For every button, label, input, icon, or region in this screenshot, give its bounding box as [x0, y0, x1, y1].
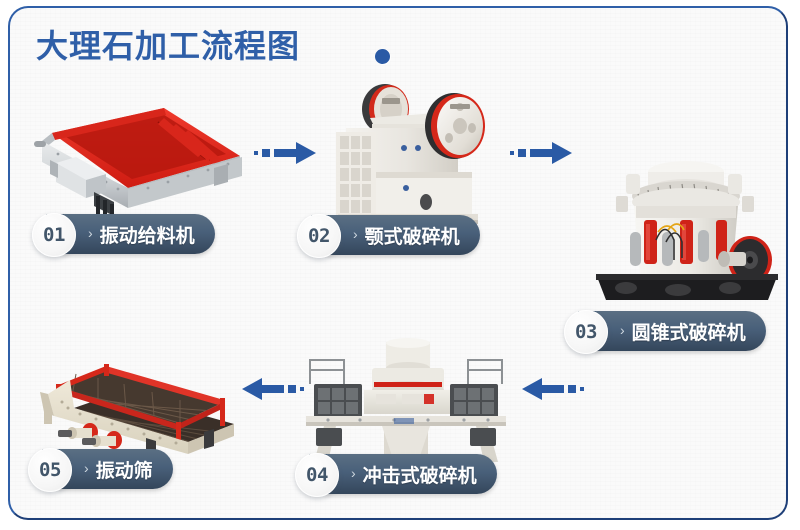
step-title-03: 圆锥式破碎机	[632, 318, 746, 345]
machine-cone-crusher	[582, 148, 788, 310]
chevron-right-icon: ›	[88, 226, 93, 240]
step-pill-04[interactable]: › 冲击式破碎机	[325, 454, 497, 494]
step-pill-05[interactable]: › 振动筛	[58, 449, 173, 489]
step-title-05: 振动筛	[96, 456, 153, 483]
machine-vibrating-feeder	[28, 96, 258, 226]
step-badge-03: 03	[564, 310, 608, 354]
title-bullet-dot	[375, 49, 390, 64]
arrow-03-to-04	[518, 376, 584, 402]
step-badge-04: 04	[295, 453, 339, 497]
chevron-right-icon: ›	[353, 227, 358, 241]
step-title-01: 振动给料机	[100, 221, 195, 248]
chevron-right-icon: ›	[84, 461, 89, 475]
step-pill-01[interactable]: › 振动给料机	[62, 214, 215, 254]
step-number-03: 03	[575, 321, 597, 343]
step-title-02: 颚式破碎机	[365, 222, 460, 249]
step-title-04: 冲击式破碎机	[363, 461, 477, 488]
arrow-02-to-03	[510, 140, 576, 166]
step-number-02: 02	[308, 225, 330, 247]
step-number-05: 05	[39, 459, 61, 481]
step-badge-01: 01	[32, 213, 76, 257]
step-badge-05: 05	[28, 448, 72, 492]
machine-jaw-crusher	[322, 76, 500, 228]
arrow-04-to-05	[238, 376, 304, 402]
chevron-right-icon: ›	[351, 466, 356, 480]
step-number-01: 01	[43, 224, 65, 246]
flowchart-canvas: 大理石加工流程图	[0, 0, 800, 530]
step-number-04: 04	[306, 464, 328, 486]
step-pill-02[interactable]: › 颚式破碎机	[327, 215, 480, 255]
chevron-right-icon: ›	[620, 323, 625, 337]
step-pill-03[interactable]: › 圆锥式破碎机	[594, 311, 766, 351]
page-title: 大理石加工流程图	[36, 30, 300, 62]
step-badge-02: 02	[297, 214, 341, 258]
machine-impact-crusher	[298, 338, 514, 466]
arrow-01-to-02	[254, 140, 320, 166]
flowchart-frame: 大理石加工流程图	[8, 6, 788, 520]
